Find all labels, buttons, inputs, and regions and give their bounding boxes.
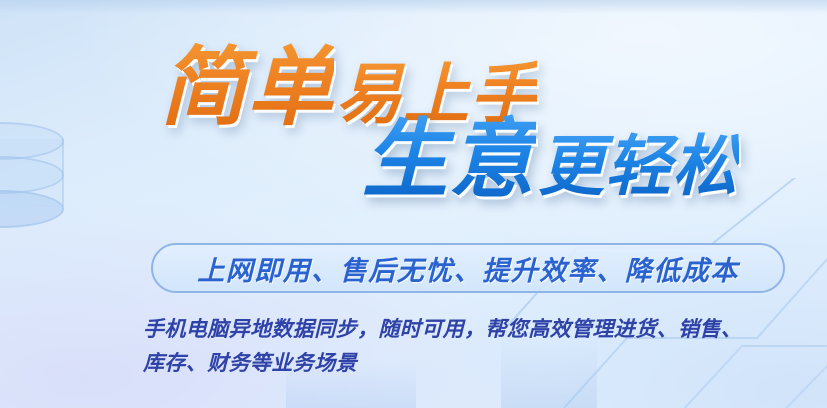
headline-line-2-rest: 更轻松 [538,128,739,205]
headline: 简单易上手 生意更轻松 [0,46,827,203]
body-copy-line-1: 手机电脑异地数据同步，随时可用，帮您高效管理进货、销售、 [143,312,753,346]
body-copy: 手机电脑异地数据同步，随时可用，帮您高效管理进货、销售、 库存、财务等业务场景 [143,312,753,380]
headline-line-1-emphasis: 简单 [160,38,334,138]
headline-line-2-emphasis: 生意 [362,110,536,210]
body-copy-line-2: 库存、财务等业务场景 [143,346,753,380]
promo-banner: 简单易上手 生意更轻松 上网即用、售后无忧、提升效率、降低成本 手机电脑异地数据… [0,0,827,408]
background-top-strip [0,0,827,14]
database-cylinder-icon [0,118,64,244]
headline-line-1: 简单易上手 [0,46,827,130]
feature-pill: 上网即用、售后无忧、提升效率、降低成本 [151,243,785,293]
feature-pill-text: 上网即用、售后无忧、提升效率、降低成本 [197,249,739,288]
headline-line-1-rest: 易上手 [336,56,537,133]
headline-line-2: 生意更轻松 [0,118,827,202]
